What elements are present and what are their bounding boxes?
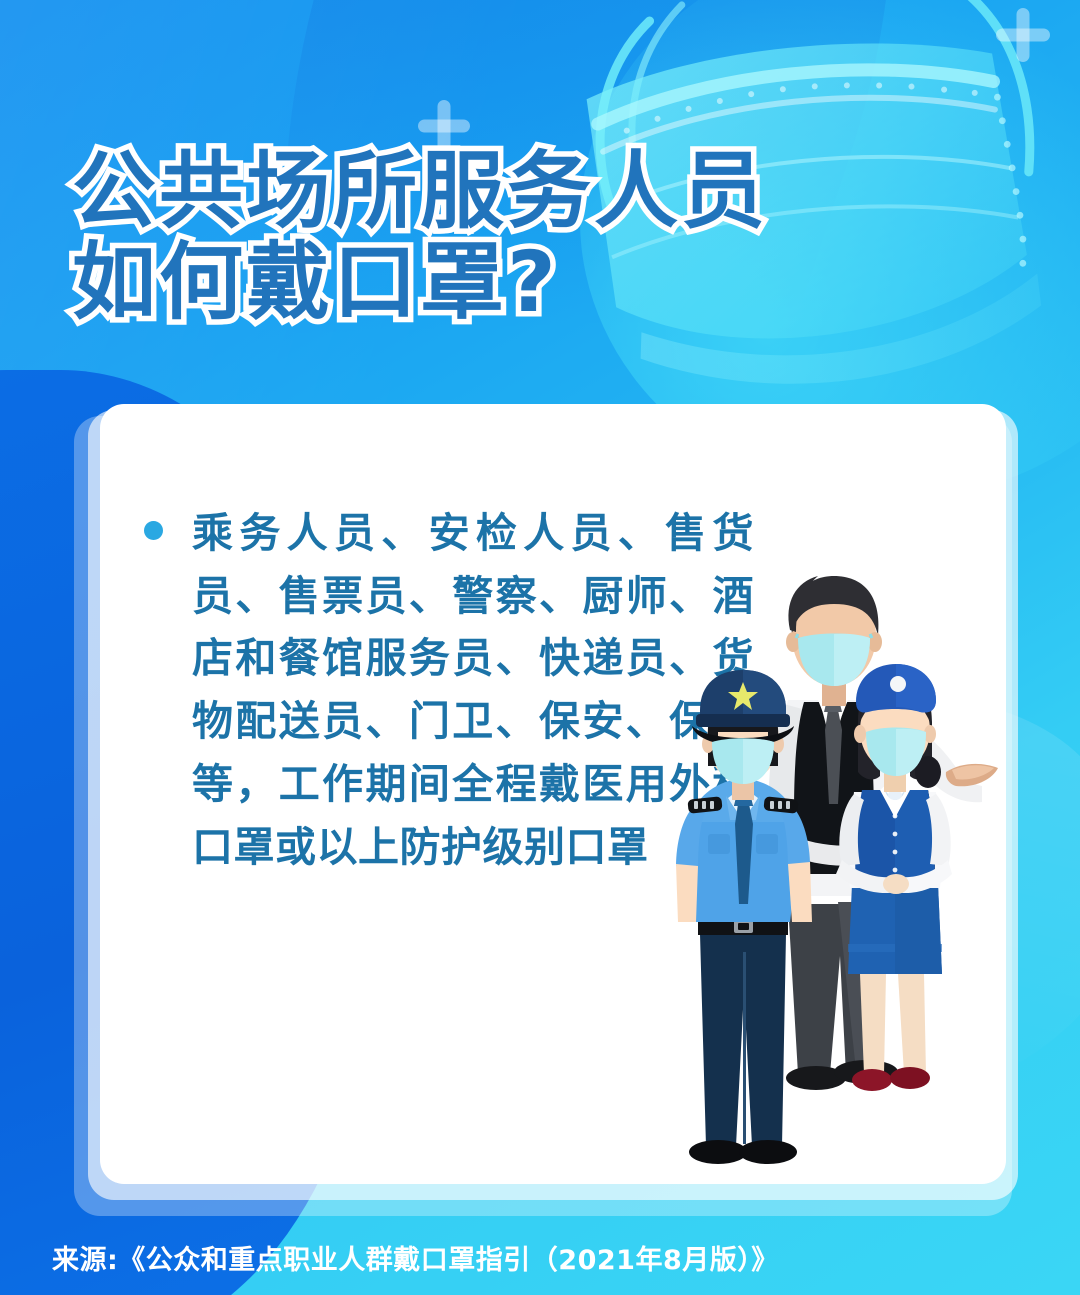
page-title-line-2: 如何戴口罩? bbox=[72, 237, 768, 328]
infographic-poster: 公共场所服务人员 如何戴口罩? 乘务人员、安检人员、售货员、售票员、警察、厨师、… bbox=[0, 0, 1080, 1295]
bullet-list-item: 乘务人员、安检人员、售货员、售票员、警察、厨师、酒店和餐馆服务员、快递员、货物配… bbox=[144, 502, 754, 878]
bullet-dot-icon bbox=[144, 521, 163, 540]
service-workers-illustration bbox=[670, 504, 1000, 1184]
cap-button-icon bbox=[890, 676, 906, 692]
source-attribution: 来源:《公众和重点职业人群戴口罩指引（2021年8月版）》 bbox=[52, 1238, 779, 1277]
page-title: 公共场所服务人员 如何戴口罩? bbox=[72, 146, 768, 327]
page-title-line-1: 公共场所服务人员 bbox=[72, 146, 768, 237]
plus-icon bbox=[996, 8, 1050, 62]
content-card: 乘务人员、安检人员、售货员、售票员、警察、厨师、酒店和餐馆服务员、快递员、货物配… bbox=[100, 404, 1006, 1184]
